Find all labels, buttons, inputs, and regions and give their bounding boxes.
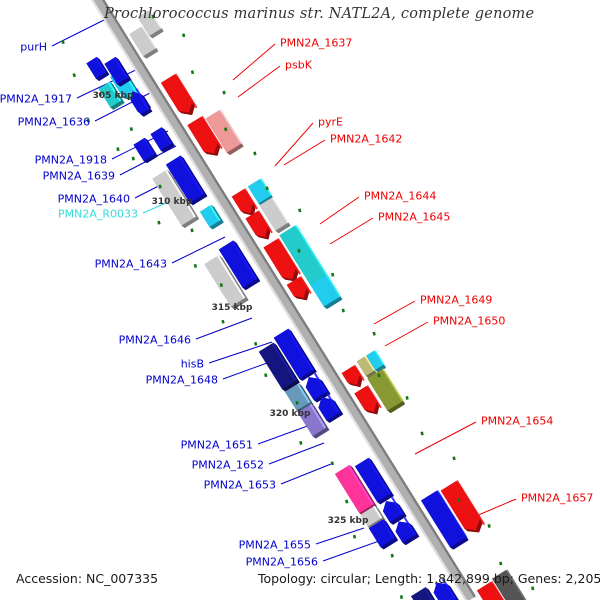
- tick-marker: [374, 332, 375, 335]
- tick-marker: [332, 273, 333, 276]
- tick-marker: [379, 374, 380, 377]
- tick-marker: [299, 249, 300, 252]
- leader-line: [323, 540, 382, 561]
- tick-marker: [133, 157, 134, 160]
- gene-label[interactable]: PMN2A_1642: [330, 134, 402, 145]
- tick-marker: [489, 524, 490, 527]
- gene-block[interactable]: [134, 138, 158, 163]
- tick-marker: [459, 498, 460, 501]
- genome-map-canvas[interactable]: Prochlorococcus marinus str. NATL2A, com…: [0, 0, 600, 600]
- leader-line: [316, 528, 364, 544]
- gene-label[interactable]: PMN2A_1640: [58, 194, 130, 205]
- tick-marker: [422, 432, 423, 435]
- gene-label[interactable]: PMN2A_1649: [420, 295, 492, 306]
- gene-label[interactable]: PMN2A_1918: [35, 155, 107, 166]
- leader-line: [269, 443, 324, 464]
- leader-line: [275, 123, 313, 166]
- gene-label[interactable]: PMN2A_1639: [43, 171, 115, 182]
- gene-label[interactable]: PMN2A_1655: [239, 540, 311, 551]
- tick-marker: [532, 587, 533, 590]
- gene-label[interactable]: hisB: [181, 359, 204, 370]
- gene-label[interactable]: PMN2A_1637: [280, 38, 352, 49]
- tick-marker: [225, 128, 226, 131]
- gene-label[interactable]: PMN2A_R0033: [58, 209, 138, 220]
- tick-marker: [401, 595, 402, 598]
- gene-block[interactable]: [200, 205, 224, 230]
- gene-label[interactable]: PMN2A_1644: [364, 191, 436, 202]
- scale-tick-label: 305 kbp: [93, 91, 134, 101]
- gene-label[interactable]: PMN2A_1651: [181, 440, 253, 451]
- gene-label[interactable]: PMN2A_1636: [18, 117, 90, 128]
- scale-tick-label: 325 kbp: [328, 516, 369, 526]
- tick-marker: [454, 457, 455, 460]
- tick-marker: [500, 562, 501, 565]
- genome-stats-text: Topology: circular; Length: 1,842,899 bp…: [258, 571, 600, 586]
- tick-marker: [74, 73, 75, 76]
- tick-marker: [332, 462, 333, 465]
- tick-marker: [223, 320, 224, 323]
- tick-marker: [221, 283, 222, 286]
- tick-marker: [195, 264, 196, 267]
- scale-tick-label: 310 kbp: [152, 197, 193, 207]
- tick-marker: [192, 229, 193, 232]
- tick-marker: [392, 554, 393, 557]
- gene-label[interactable]: PMN2A_1648: [146, 375, 218, 386]
- gene-label[interactable]: PMN2A_1654: [481, 416, 553, 427]
- genome-map-svg: [0, 0, 600, 600]
- gene-label[interactable]: PMN2A_1646: [119, 335, 191, 346]
- gene-label[interactable]: PMN2A_1643: [95, 259, 167, 270]
- backbone-layer: [80, 0, 476, 600]
- gene-label[interactable]: PMN2A_1652: [192, 460, 264, 471]
- gene-label[interactable]: purH: [20, 42, 47, 53]
- gene-label[interactable]: PMN2A_1917: [0, 94, 72, 105]
- leader-line: [284, 140, 325, 165]
- leader-line: [258, 424, 313, 444]
- gene-label[interactable]: PMN2A_1656: [246, 557, 318, 568]
- leader-line: [281, 464, 331, 484]
- tick-marker: [255, 152, 256, 155]
- tick-marker: [407, 396, 408, 399]
- scale-tick-label: 315 kbp: [212, 303, 253, 313]
- gene-label[interactable]: PMN2A_1645: [378, 212, 450, 223]
- tick-marker: [160, 185, 161, 188]
- tick-marker: [354, 535, 355, 538]
- leader-line: [415, 422, 476, 454]
- tick-marker: [343, 309, 344, 312]
- tick-marker: [299, 209, 300, 212]
- tick-marker: [300, 441, 301, 444]
- gene-block[interactable]: [104, 57, 131, 87]
- tick-marker: [265, 374, 266, 377]
- gene-label[interactable]: psbK: [285, 60, 312, 71]
- gene-block[interactable]: [396, 517, 420, 545]
- tick-marker: [63, 40, 64, 43]
- tick-marker: [159, 221, 160, 224]
- tick-marker: [346, 500, 347, 503]
- tick-marker: [131, 127, 132, 130]
- gene-label[interactable]: PMN2A_1650: [433, 316, 505, 327]
- leader-line: [374, 301, 415, 324]
- scale-tick-label: 320 kbp: [270, 409, 311, 419]
- page-title: Prochlorococcus marinus str. NATL2A, com…: [104, 6, 534, 22]
- gene-block[interactable]: [86, 57, 109, 81]
- gene-label[interactable]: PMN2A_1653: [204, 480, 276, 491]
- leader-line: [330, 218, 373, 244]
- leader-line: [52, 17, 110, 46]
- tick-marker: [224, 91, 225, 94]
- tick-marker: [118, 148, 119, 151]
- tick-marker: [297, 401, 298, 404]
- tick-marker: [267, 187, 268, 190]
- gene-label[interactable]: pyrE: [318, 117, 343, 128]
- leader-line: [385, 322, 428, 346]
- tick-marker: [192, 71, 193, 74]
- tick-marker: [255, 342, 256, 345]
- gene-block[interactable]: [383, 497, 407, 525]
- gene-label[interactable]: PMN2A_1657: [521, 493, 593, 504]
- leader-line: [320, 197, 359, 224]
- tick-marker: [183, 34, 184, 37]
- accession-text: Accession: NC_007335: [16, 571, 158, 586]
